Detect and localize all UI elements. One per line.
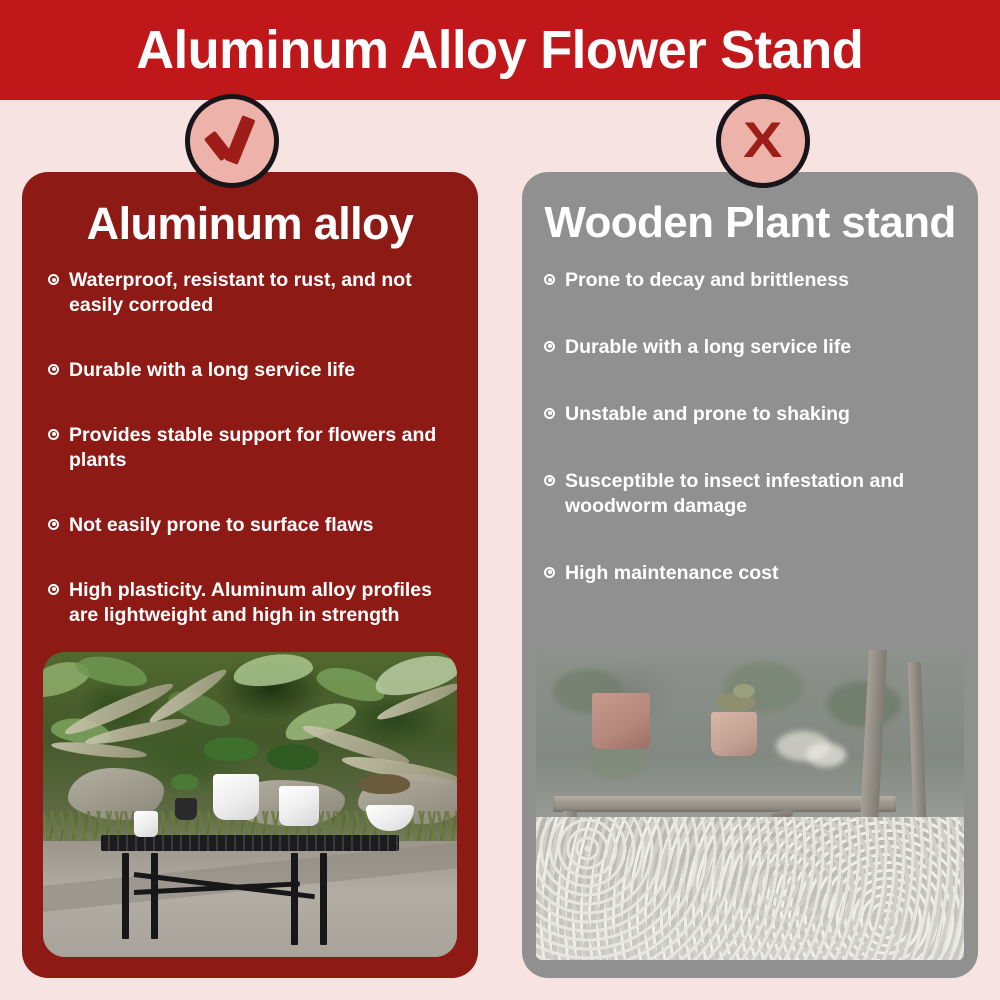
bullet-dot-icon (544, 408, 555, 419)
check-badge (185, 94, 279, 188)
list-item: Durable with a long service life (544, 335, 962, 360)
list-item-label: High plasticity. Aluminum alloy profiles… (69, 578, 458, 628)
panel-heading-wooden: Wooden Plant stand (522, 200, 978, 246)
list-item-label: Provides stable support for flowers and … (69, 423, 458, 473)
list-item: High plasticity. Aluminum alloy profiles… (48, 578, 458, 628)
list-item: Prone to decay and brittleness (544, 268, 962, 293)
list-item: Unstable and prone to shaking (544, 402, 962, 427)
list-item: Not easily prone to surface flaws (48, 513, 458, 538)
panel-heading-aluminum: Aluminum alloy (22, 200, 478, 247)
list-item-label: Prone to decay and brittleness (565, 268, 962, 293)
cross-badge: X (716, 94, 810, 188)
feature-list-aluminum: Waterproof, resistant to rust, and not e… (48, 268, 458, 668)
bullet-dot-icon (48, 274, 59, 285)
bullet-dot-icon (544, 475, 555, 486)
x-mark-icon: X (743, 115, 782, 165)
list-item-label: Durable with a long service life (565, 335, 962, 360)
list-item-label: Durable with a long service life (69, 358, 458, 383)
product-photo-wooden-stand (536, 650, 964, 960)
bullet-dot-icon (544, 274, 555, 285)
list-item-label: Waterproof, resistant to rust, and not e… (69, 268, 458, 318)
page-title: Aluminum Alloy Flower Stand (136, 23, 863, 77)
list-item: Provides stable support for flowers and … (48, 423, 458, 473)
list-item-label: Not easily prone to surface flaws (69, 513, 458, 538)
bullet-dot-icon (48, 429, 59, 440)
product-photo-aluminum-stand (43, 652, 457, 957)
list-item: Waterproof, resistant to rust, and not e… (48, 268, 458, 318)
checkmark-icon (204, 115, 260, 167)
bullet-dot-icon (48, 364, 59, 375)
comparison-panel-wooden: Wooden Plant stand Prone to decay and br… (522, 172, 978, 978)
list-item-label: High maintenance cost (565, 561, 962, 586)
bullet-dot-icon (48, 584, 59, 595)
list-item: Durable with a long service life (48, 358, 458, 383)
list-item-label: Susceptible to insect infestation and wo… (565, 469, 962, 519)
list-item: Susceptible to insect infestation and wo… (544, 469, 962, 519)
list-item: High maintenance cost (544, 561, 962, 586)
header-banner: Aluminum Alloy Flower Stand (0, 0, 1000, 100)
list-item-label: Unstable and prone to shaking (565, 402, 962, 427)
bullet-dot-icon (48, 519, 59, 530)
comparison-panel-aluminum: Aluminum alloy Waterproof, resistant to … (22, 172, 478, 978)
bullet-dot-icon (544, 341, 555, 352)
feature-list-wooden: Prone to decay and brittleness Durable w… (544, 268, 962, 628)
bullet-dot-icon (544, 567, 555, 578)
